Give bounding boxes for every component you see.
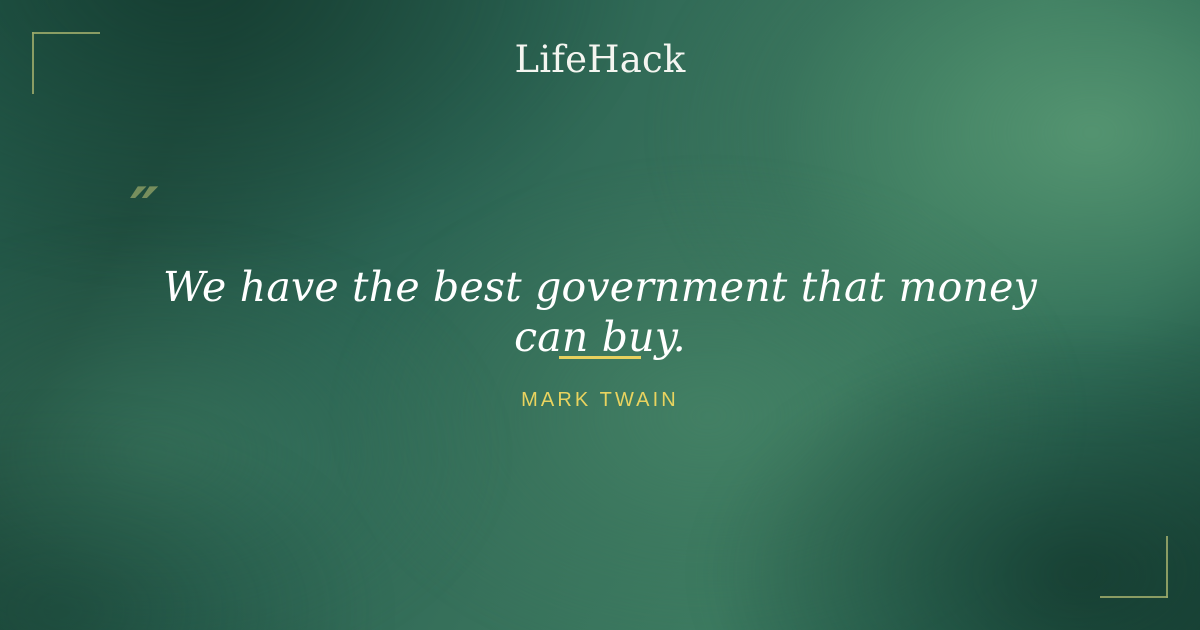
corner-bracket-bottom-right-vertical	[1166, 536, 1168, 598]
brand-logo: LifeHack	[0, 41, 1200, 78]
quote-block: We have the best government that money c…	[0, 262, 1200, 362]
author-divider	[559, 356, 641, 359]
corner-bracket-bottom-right-icon	[1100, 536, 1168, 598]
quote-author: MARK TWAIN	[0, 389, 1200, 412]
corner-bracket-bottom-right-horizontal	[1100, 596, 1168, 598]
quote-text: We have the best government that money c…	[150, 262, 1050, 362]
quote-card: LifeHack ″ We have the best government t…	[0, 0, 1200, 630]
quotation-mark-icon: ″	[130, 180, 157, 244]
corner-bracket-top-left-horizontal	[32, 32, 100, 34]
